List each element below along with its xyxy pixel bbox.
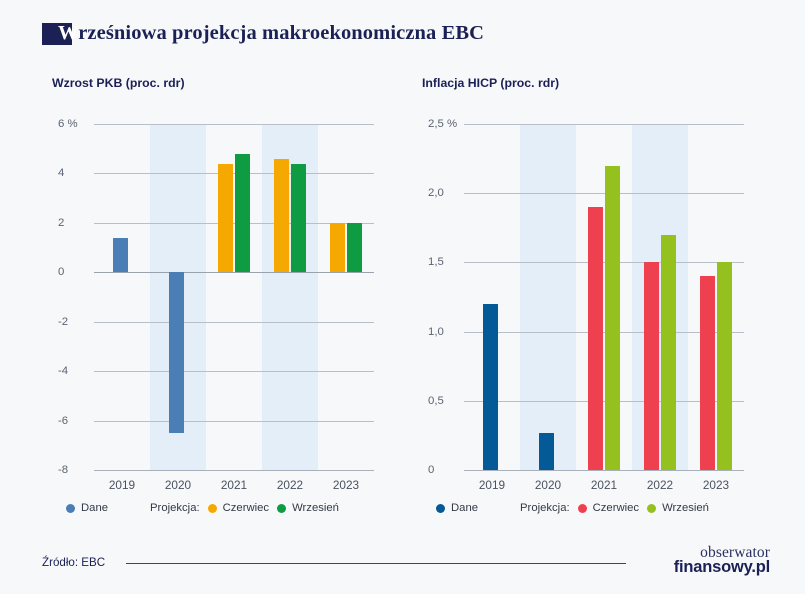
plot-area-gdp: -8-6-4-20246 %20192020202120222023 [58, 118, 374, 476]
x-axis-line [464, 470, 744, 471]
y-axis-tick-label: 2,0 [428, 187, 460, 199]
legend-label-projekcja: Projekcja: [520, 502, 570, 514]
brand-logo: obserwator finansowy.pl [674, 546, 770, 575]
bar-2023-czerwiec [700, 276, 715, 470]
gridline-2 [464, 193, 744, 194]
bar-2022-wrzesień [291, 164, 306, 273]
page-title: Wrześniowa projekcja makroekonomiczna EB… [58, 22, 484, 45]
shaded-band-2022 [632, 124, 688, 470]
legend-item-wrzesien: Wrzesień [647, 502, 709, 514]
legend-item-dane: Dane [436, 502, 478, 514]
page-title-first-letter: W [58, 22, 78, 44]
x-axis-labels: 20192020202120222023 [464, 474, 744, 496]
y-axis-tick-label: 0 [428, 464, 460, 476]
x-axis-line [94, 470, 374, 471]
legend-label-czerwiec: Czerwiec [593, 502, 639, 514]
plot-area-hicp: 00,51,01,52,02,5 %20192020202120222023 [428, 118, 744, 476]
y-axis-tick-label: 2 [58, 217, 90, 229]
bar-2021-czerwiec [588, 207, 603, 470]
x-axis-tick-label-2020: 2020 [165, 478, 191, 492]
y-axis-tick-label: 2,5 % [428, 118, 460, 130]
bar-2021-czerwiec [218, 164, 233, 273]
page-title-rest: rześniowa projekcja makroekonomiczna EBC [78, 22, 484, 44]
y-axis-tick-label: 1,5 [428, 256, 460, 268]
y-axis-tick-label: -4 [58, 365, 90, 377]
gridline-0 [94, 272, 374, 273]
bar-2023-wrzesień [347, 223, 362, 272]
gridline-4 [94, 173, 374, 174]
x-axis-tick-label-2023: 2023 [703, 478, 729, 492]
x-axis-tick-label-2022: 2022 [647, 478, 673, 492]
bar-2023-wrzesień [717, 262, 732, 470]
y-axis-tick-label: 0,5 [428, 395, 460, 407]
source-note: Źródło: EBC [42, 556, 105, 569]
legend-label-wrzesien: Wrzesień [662, 502, 709, 514]
legend-item-czerwiec: Czerwiec [208, 502, 269, 514]
x-axis-tick-label-2021: 2021 [221, 478, 247, 492]
legend-label-czerwiec: Czerwiec [223, 502, 269, 514]
x-axis-tick-label-2019: 2019 [109, 478, 135, 492]
legend-gdp: Dane Projekcja: Czerwiec Wrzesień [66, 502, 347, 514]
y-axis-tick-label: -6 [58, 415, 90, 427]
header: Wrześniowa projekcja makroekonomiczna EB… [0, 0, 805, 62]
chart-panel-gdp: Wzrost PKB (proc. rdr) -8-6-4-20246 %201… [30, 62, 390, 532]
legend-dot-wrzesien [277, 504, 286, 513]
legend-item-dane: Dane [66, 502, 108, 514]
legend-item-wrzesien: Wrzesień [277, 502, 339, 514]
gridline-2-5 [464, 124, 744, 125]
y-axis-tick-label: -2 [58, 316, 90, 328]
x-axis-tick-label-2022: 2022 [277, 478, 303, 492]
bar-2021-wrzesień [235, 154, 250, 273]
x-axis-labels: 20192020202120222023 [94, 474, 374, 496]
gridline-6 [94, 124, 374, 125]
y-axis-tick-label: 0 [58, 266, 90, 278]
footer: Źródło: EBC obserwator finansowy.pl [0, 548, 805, 594]
footer-divider [126, 563, 626, 564]
bar-2023-czerwiec [330, 223, 345, 272]
y-axis-tick-label: 4 [58, 167, 90, 179]
shaded-band-2022 [262, 124, 318, 470]
bar-2022-wrzesień [661, 235, 676, 470]
y-axis-tick-label: 1,0 [428, 326, 460, 338]
bar-2021-wrzesień [605, 166, 620, 470]
bar-2020-dane [539, 433, 554, 470]
chart-page: Wrześniowa projekcja makroekonomiczna EB… [0, 0, 805, 594]
x-axis-tick-label-2021: 2021 [591, 478, 617, 492]
legend-dot-czerwiec [208, 504, 217, 513]
gridline--4 [94, 371, 374, 372]
y-axis-tick-label: 6 % [58, 118, 90, 130]
gridline--2 [94, 322, 374, 323]
legend-dot-wrzesien [647, 504, 656, 513]
bar-2022-czerwiec [274, 159, 289, 273]
legend-label-dane: Dane [81, 502, 108, 514]
bar-2022-czerwiec [644, 262, 659, 470]
chart-panel-hicp: Inflacja HICP (proc. rdr) 00,51,01,52,02… [400, 62, 760, 532]
shaded-band-2020 [520, 124, 576, 470]
brand-logo-line2: finansowy.pl [674, 560, 770, 576]
legend-item-czerwiec: Czerwiec [578, 502, 639, 514]
x-axis-tick-label-2023: 2023 [333, 478, 359, 492]
legend-dot-dane [66, 504, 75, 513]
x-axis-tick-label-2020: 2020 [535, 478, 561, 492]
bar-2019-dane [483, 304, 498, 470]
legend-dot-czerwiec [578, 504, 587, 513]
legend-dot-dane [436, 504, 445, 513]
chart-title-gdp: Wzrost PKB (proc. rdr) [52, 76, 185, 90]
gridline-1-5 [464, 262, 744, 263]
title-block: Wrześniowa projekcja makroekonomiczna EB… [42, 22, 484, 45]
legend-label-wrzesien: Wrzesień [292, 502, 339, 514]
legend-hicp: Dane Projekcja: Czerwiec Wrzesień [436, 502, 717, 514]
gridline--6 [94, 421, 374, 422]
bar-2019-dane [113, 238, 128, 273]
chart-title-hicp: Inflacja HICP (proc. rdr) [422, 76, 559, 90]
bar-2020-dane [169, 272, 184, 433]
y-axis-tick-label: -8 [58, 464, 90, 476]
legend-label-dane: Dane [451, 502, 478, 514]
x-axis-tick-label-2019: 2019 [479, 478, 505, 492]
legend-label-projekcja: Projekcja: [150, 502, 200, 514]
